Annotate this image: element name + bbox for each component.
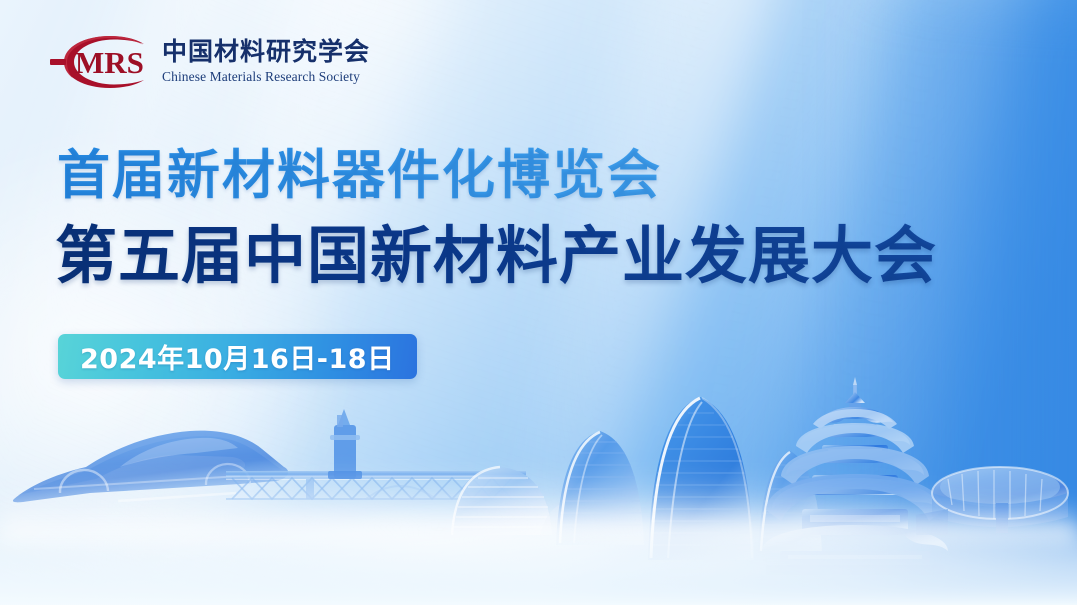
society-name-en: Chinese Materials Research Society <box>162 69 370 85</box>
society-logo-block: MRS 中国材料研究学会 Chinese Materials Research … <box>48 30 370 94</box>
conference-banner: MRS 中国材料研究学会 Chinese Materials Research … <box>0 0 1077 605</box>
event-title-line-1: 首届新材料器件化博览会 <box>57 133 662 209</box>
parabolic-tower-left <box>556 431 644 545</box>
event-title-line-2: 第五届中国新材料产业发展大会 <box>55 205 937 295</box>
event-date-text: 2024年10月16日-18日 <box>80 337 395 376</box>
svg-text:MRS: MRS <box>75 45 144 80</box>
society-name-cn: 中国材料研究学会 <box>162 39 370 67</box>
city-skyline <box>0 375 1077 605</box>
stadium-arena <box>916 467 1068 535</box>
bridge-tower <box>328 409 362 479</box>
society-name-text: 中国材料研究学会 Chinese Materials Research Soci… <box>162 39 370 85</box>
event-date-badge: 2024年10月16日-18日 <box>58 334 417 379</box>
c-mrs-logo-icon: MRS <box>48 30 152 94</box>
parabolic-tower-center <box>648 397 754 560</box>
sports-car-silhouette <box>13 431 288 503</box>
